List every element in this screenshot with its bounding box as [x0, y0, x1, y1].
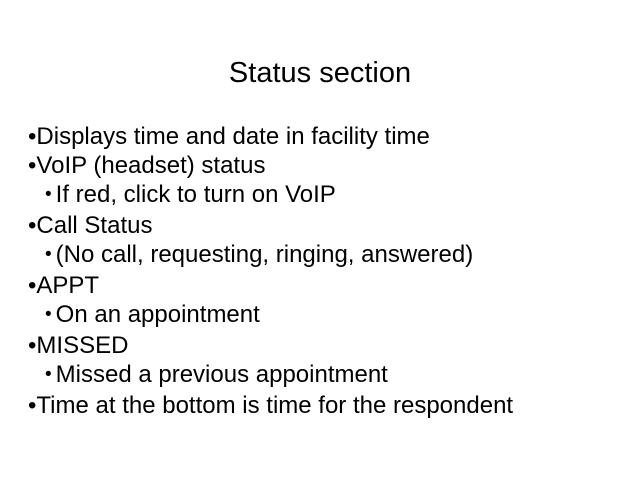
list-item-label: MISSED	[36, 332, 128, 359]
list-item-label: (No call, requesting, ringing, answered)	[56, 241, 474, 268]
slide: Status section •Displays time and date i…	[0, 0, 640, 480]
list-item-label: Displays time and date in facility time	[36, 123, 430, 150]
list-item: •If red, click to turn on VoIP	[45, 180, 628, 211]
bullet-icon: •	[45, 184, 52, 205]
list-item-label: On an appointment	[56, 301, 260, 328]
list-item: •MISSED	[28, 331, 628, 360]
bullet-list: •Displays time and date in facility time…	[28, 122, 628, 420]
bullet-icon: •	[45, 304, 52, 325]
list-item: •Missed a previous appointment	[45, 360, 628, 391]
bullet-icon: •	[45, 364, 52, 385]
list-item: •(No call, requesting, ringing, answered…	[45, 240, 628, 271]
list-item: •Time at the bottom is time for the resp…	[28, 391, 628, 420]
list-item-label: Call Status	[36, 212, 152, 239]
list-item: •APPT	[28, 271, 628, 300]
list-item-label: Time at the bottom is time for the respo…	[36, 392, 513, 419]
bullet-icon: •	[45, 244, 52, 265]
list-item-label: Missed a previous appointment	[56, 361, 388, 388]
list-item-label: VoIP (headset) status	[36, 152, 265, 179]
list-item-label: If red, click to turn on VoIP	[56, 181, 336, 208]
page-title: Status section	[0, 55, 640, 91]
list-item: •Displays time and date in facility time	[28, 122, 628, 151]
list-item: •VoIP (headset) status	[28, 151, 628, 180]
list-item: •On an appointment	[45, 300, 628, 331]
list-item: •Call Status	[28, 211, 628, 240]
list-item-label: APPT	[36, 272, 99, 299]
